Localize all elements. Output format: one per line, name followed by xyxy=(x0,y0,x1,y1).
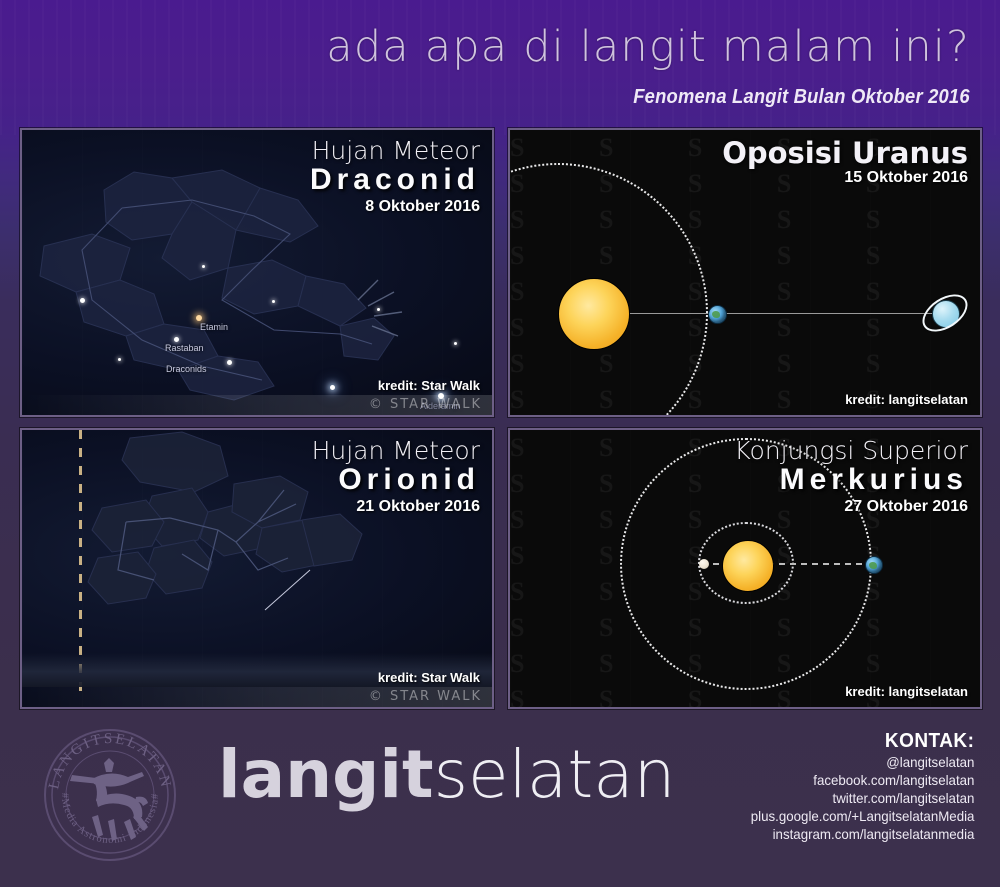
contact-instagram-handle[interactable]: @langitselatan xyxy=(750,753,974,771)
brand-bold: langit xyxy=(218,736,434,813)
panel-orionid-credit: kredit: Star Walk xyxy=(378,670,480,685)
star-etamin xyxy=(196,315,202,321)
contact-facebook[interactable]: facebook.com/langitselatan xyxy=(750,771,974,789)
brand-light: selatan xyxy=(434,736,676,813)
panel-orionid[interactable]: Planet Nine Bellatrix ORION Rigel LEPUS … xyxy=(20,428,494,709)
panel-uranus-kicker: Oposisi Uranus xyxy=(722,138,968,168)
star-field-5 xyxy=(377,308,380,311)
opposition-sightline xyxy=(610,313,940,314)
star-field-1 xyxy=(80,298,85,303)
panel-draconid-heading: Hujan Meteor Draconid 8 Oktober 2016 xyxy=(310,138,480,216)
panel-merkurius-heading: Konjungsi Superior Merkurius 27 Oktober … xyxy=(734,438,968,516)
brand-wordmark: langitselatan xyxy=(218,742,676,808)
star-field-12 xyxy=(202,265,205,268)
panel-uranus[interactable]: S S S S S S S S S S S S S S S S S S S S … xyxy=(508,128,982,417)
starwalk-watermark-orionid: © STAR WALK xyxy=(22,687,492,707)
panel-orionid-date: 21 Oktober 2016 xyxy=(312,498,480,516)
earth-body xyxy=(708,305,727,324)
panel-draconid-credit: kredit: Star Walk xyxy=(378,378,480,393)
panel-uranus-date: 15 Oktober 2016 xyxy=(722,169,968,187)
panel-orionid-heading: Hujan Meteor Orionid 21 Oktober 2016 xyxy=(312,438,480,516)
contact-title: KONTAK: xyxy=(750,730,974,753)
panel-draconid-kicker: Hujan Meteor xyxy=(310,138,480,164)
label-rastaban: Rastaban xyxy=(165,343,204,353)
panel-merkurius[interactable]: S S S S S S S S S S S S S S S S S S S S … xyxy=(508,428,982,709)
star-field-8 xyxy=(272,300,275,303)
contact-block: KONTAK: @langitselatan facebook.com/lang… xyxy=(739,730,974,843)
contact-google-plus[interactable]: plus.google.com/+LangitselatanMedia xyxy=(750,807,974,825)
panel-orionid-name: Orionid xyxy=(312,464,480,496)
panel-merkurius-name: Merkurius xyxy=(734,464,968,496)
mercury-body xyxy=(699,559,709,569)
sun-body xyxy=(558,278,630,350)
earth-body-merkurius xyxy=(865,556,883,574)
starwalk-watermark-draconid: © STAR WALK xyxy=(22,395,492,415)
panel-draconid-date: 8 Oktober 2016 xyxy=(310,198,480,216)
label-etamin: Etamin xyxy=(200,322,228,332)
contact-instagram[interactable]: instagram.com/langitselatanmedia xyxy=(750,825,974,843)
page-subtitle: Fenomena Langit Bulan Oktober 2016 xyxy=(633,86,970,109)
panel-merkurius-date: 27 Oktober 2016 xyxy=(734,498,968,516)
panel-orionid-kicker: Hujan Meteor xyxy=(312,438,480,464)
langitselatan-logo[interactable]: LANGITSELATAN #Media Astronomi Indonesia… xyxy=(42,727,178,863)
sun-body-merkurius xyxy=(722,540,774,592)
panel-uranus-heading: Oposisi Uranus 15 Oktober 2016 xyxy=(722,138,968,187)
panel-uranus-credit: kredit: langitselatan xyxy=(845,392,968,407)
star-field-6 xyxy=(454,342,457,345)
label-draconids: Draconids xyxy=(166,364,207,374)
star-field-7 xyxy=(118,358,121,361)
panel-draconid[interactable]: Etamin Rastaban Draconids Nodus Secundus… xyxy=(20,128,494,417)
star-rastaban xyxy=(174,337,179,342)
star-nodus-secundus xyxy=(330,385,335,390)
star-draco-joint xyxy=(227,360,232,365)
contact-twitter[interactable]: twitter.com/langitselatan xyxy=(750,789,974,807)
panel-merkurius-credit: kredit: langitselatan xyxy=(845,684,968,699)
page-title: ada apa di langit malam ini? xyxy=(326,22,970,72)
infographic-poster: ada apa di langit malam ini? Fenomena La… xyxy=(0,0,1000,887)
panel-draconid-name: Draconid xyxy=(310,164,480,196)
panel-merkurius-kicker: Konjungsi Superior xyxy=(734,438,968,464)
